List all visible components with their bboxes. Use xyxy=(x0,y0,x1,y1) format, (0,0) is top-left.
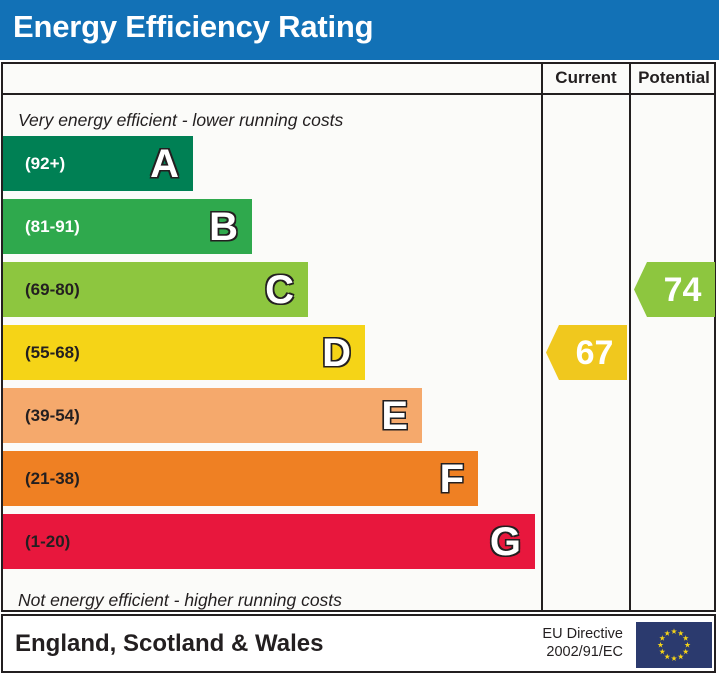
band-range-label-c: (69-80) xyxy=(25,280,80,300)
band-range-label-g: (1-20) xyxy=(25,532,70,552)
rating-value-current: 67 xyxy=(546,336,627,370)
band-letter-f: F xyxy=(440,459,464,499)
eu-flag-star xyxy=(664,654,670,660)
rating-marker-current: 67 xyxy=(546,325,627,380)
eu-flag-star xyxy=(671,655,677,661)
band-letter-c: C xyxy=(265,270,294,310)
rating-band-d: (55-68)D xyxy=(3,325,365,380)
band-letter-b: B xyxy=(209,207,238,247)
footer-directive-label: EU Directive 2002/91/EC xyxy=(519,625,623,661)
band-letter-e: E xyxy=(381,396,408,436)
rating-band-a: (92+)A xyxy=(3,136,193,191)
band-letter-g: G xyxy=(490,522,521,562)
rating-value-potential: 74 xyxy=(634,273,715,307)
eu-flag-star xyxy=(659,635,665,641)
rating-band-c: (69-80)C xyxy=(3,262,308,317)
eu-flag-star xyxy=(664,630,670,636)
footer-region-label: England, Scotland & Wales xyxy=(15,630,323,658)
rating-band-b: (81-91)B xyxy=(3,199,252,254)
eu-flag-star xyxy=(678,654,684,660)
caption-very-efficient: Very energy efficient - lower running co… xyxy=(18,110,343,131)
eu-flag-star xyxy=(671,628,677,634)
energy-efficiency-rating-chart: Energy Efficiency Rating Current Potenti… xyxy=(0,0,719,675)
page-title: Energy Efficiency Rating xyxy=(13,9,373,45)
caption-not-efficient: Not energy efficient - higher running co… xyxy=(18,590,342,611)
band-range-label-d: (55-68) xyxy=(25,343,80,363)
eu-flag-star xyxy=(683,649,689,655)
eu-flag-star xyxy=(683,635,689,641)
footer-directive-line2: 2002/91/EC xyxy=(519,643,623,661)
band-letter-d: D xyxy=(322,333,351,373)
rating-band-g: (1-20)G xyxy=(3,514,535,569)
rating-band-e: (39-54)E xyxy=(3,388,422,443)
potential-column-divider xyxy=(629,62,631,612)
eu-flag-star xyxy=(659,649,665,655)
chart-title-bar: Energy Efficiency Rating xyxy=(0,0,719,60)
column-header-potential: Potential xyxy=(631,68,717,88)
eu-flag-star xyxy=(685,642,691,648)
band-range-label-b: (81-91) xyxy=(25,217,80,237)
column-header-current: Current xyxy=(543,68,629,88)
band-range-label-f: (21-38) xyxy=(25,469,80,489)
eu-flag-star xyxy=(678,630,684,636)
rating-band-f: (21-38)F xyxy=(3,451,478,506)
current-column-divider xyxy=(541,62,543,612)
eu-flag-icon xyxy=(636,622,712,668)
band-range-label-a: (92+) xyxy=(25,154,65,174)
rating-marker-potential: 74 xyxy=(634,262,715,317)
eu-flag-star xyxy=(658,642,664,648)
footer-directive-line1: EU Directive xyxy=(519,625,623,643)
column-header-divider xyxy=(1,93,716,95)
band-letter-a: A xyxy=(150,144,179,184)
band-range-label-e: (39-54) xyxy=(25,406,80,426)
